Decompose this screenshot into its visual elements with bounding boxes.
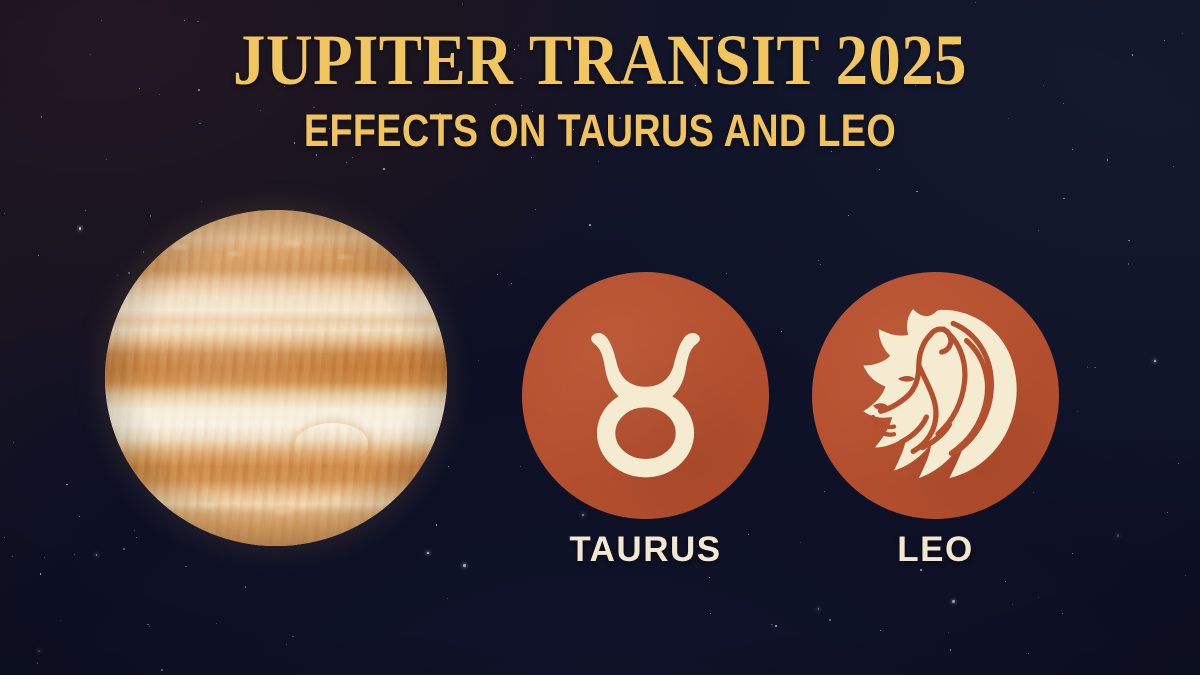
page-subtitle: EFFECTS ON TAURUS AND LEO xyxy=(96,108,1104,153)
jupiter-limb-shading xyxy=(105,210,447,546)
leo-label: LEO xyxy=(812,530,1059,570)
jupiter-disc xyxy=(105,210,447,546)
zodiac-sign-leo[interactable]: LEO xyxy=(812,272,1059,519)
leo-lion-head-icon xyxy=(812,272,1059,519)
taurus-bull-symbol-icon xyxy=(522,272,769,519)
poster-canvas: JUPITER TRANSIT 2025 EFFECTS ON TAURUS A… xyxy=(0,0,1200,675)
jupiter-planet xyxy=(105,210,447,546)
title-block: JUPITER TRANSIT 2025 EFFECTS ON TAURUS A… xyxy=(0,24,1200,153)
taurus-label: TAURUS xyxy=(522,530,769,570)
page-title: JUPITER TRANSIT 2025 xyxy=(60,24,1140,96)
taurus-circle-badge[interactable] xyxy=(522,272,769,519)
zodiac-sign-taurus[interactable]: TAURUS xyxy=(522,272,769,519)
leo-circle-badge[interactable] xyxy=(812,272,1059,519)
